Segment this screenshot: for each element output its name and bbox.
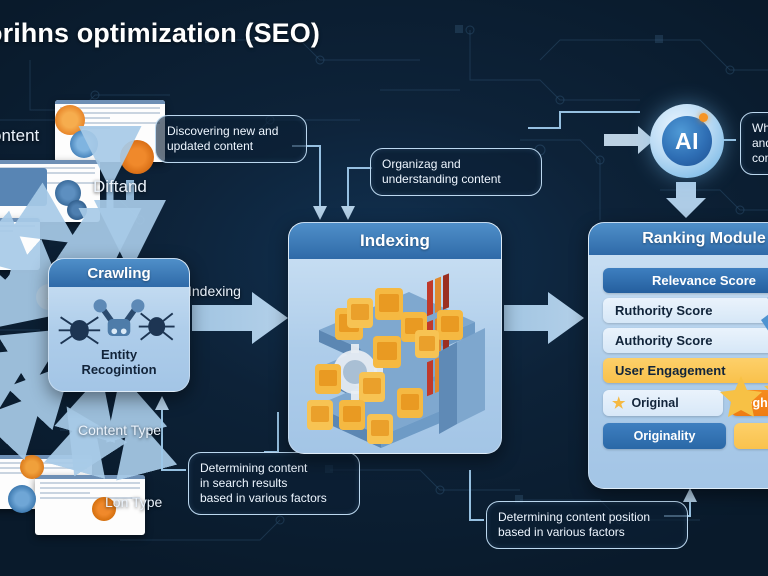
stage-indexing-header: Indexing bbox=[289, 223, 501, 259]
stage-crawling-sublabel: Entity Recogintion bbox=[49, 347, 189, 377]
label-content-type: Content Type bbox=[78, 422, 161, 438]
label-lon-type: Lon Type bbox=[105, 494, 162, 510]
star-icon: ★ bbox=[612, 394, 625, 412]
rank-row-authority[interactable]: Authority Score bbox=[603, 328, 768, 353]
rank-row-relevance[interactable]: Relevance Score bbox=[603, 268, 768, 293]
label-diftand: Diftand bbox=[93, 177, 147, 197]
chip-high-quality[interactable]: High-Quality bbox=[731, 390, 768, 416]
stage-ranking-header: Ranking Module bbox=[589, 223, 768, 255]
callout-determining-left-text: Determining content in search results ba… bbox=[200, 461, 327, 505]
chip-original-label: Original bbox=[631, 396, 678, 410]
chip-originality[interactable]: Originality bbox=[603, 423, 726, 449]
chip-row-1: ★ Original High-Quality bbox=[603, 390, 768, 416]
callout-ai-right-text: Wh and con bbox=[752, 121, 768, 165]
gear-icon bbox=[20, 455, 44, 479]
rank-row-user-engagement[interactable]: User Engagement bbox=[603, 358, 768, 383]
diagram-canvas: orihns optimization (SEO) bbox=[0, 0, 768, 576]
gear-icon bbox=[120, 140, 154, 174]
chip-high-quality-label: High-Quality bbox=[740, 396, 768, 410]
callout-organizing-text: Organizag and understanding content bbox=[382, 157, 501, 186]
label-content: ontent bbox=[0, 126, 39, 146]
gear-icon bbox=[70, 130, 98, 158]
rank-row-ruthority[interactable]: Ruthority Score bbox=[603, 298, 768, 323]
document-icon bbox=[0, 218, 40, 270]
spider-icon bbox=[139, 313, 175, 339]
indexing-illustration bbox=[289, 259, 501, 454]
callout-determining-right-text: Determining content position based in va… bbox=[498, 510, 650, 539]
stage-crawling-sublabel-line1: Entity bbox=[49, 347, 189, 362]
rank-row-user-engagement-label: User Engagement bbox=[615, 363, 726, 378]
callout-discovering: Discovering new and updated content bbox=[155, 115, 307, 163]
callout-organizing: Organizag and understanding content bbox=[370, 148, 542, 196]
stage-crawling-header: Crawling bbox=[49, 259, 189, 287]
callout-discovering-text: Discovering new and updated content bbox=[167, 124, 278, 153]
spider-icon bbox=[59, 317, 100, 343]
stage-indexing-body bbox=[289, 259, 501, 454]
callout-ai-right: Wh and con bbox=[740, 112, 768, 175]
stage-crawling-sublabel-line2: Recogintion bbox=[49, 362, 189, 377]
callout-determining-right: Determining content position based in va… bbox=[486, 501, 688, 549]
robot-arm-icon bbox=[94, 299, 145, 336]
page-title: orihns optimization (SEO) bbox=[0, 18, 320, 49]
callout-determining-left: Determining content in search results ba… bbox=[188, 452, 360, 515]
status-dot-icon bbox=[699, 113, 708, 122]
stage-crawling-body: Entity Recogintion bbox=[49, 287, 189, 385]
chip-originality-label: Originality bbox=[634, 429, 696, 443]
stage-crawling[interactable]: Crawling Entity bbox=[48, 258, 190, 392]
ai-hub-node[interactable]: AI bbox=[650, 104, 724, 178]
rank-row-authority-label: Authority Score bbox=[615, 333, 713, 348]
chip-diamond[interactable]: ♦ bbox=[734, 423, 768, 449]
stage-indexing[interactable]: Indexing bbox=[288, 222, 502, 454]
chip-row-2: Originality ♦ bbox=[603, 423, 768, 449]
stage-ranking-body: Relevance Score Ruthority Score Authorit… bbox=[589, 255, 768, 489]
rank-row-relevance-label: Relevance Score bbox=[652, 273, 756, 288]
grid-icon bbox=[0, 168, 47, 206]
chip-original[interactable]: ★ Original bbox=[603, 390, 723, 416]
gear-icon bbox=[8, 485, 36, 513]
stage-ranking[interactable]: Ranking Module Relevance Score Ruthority… bbox=[588, 222, 768, 489]
ai-label: AI bbox=[662, 116, 712, 166]
rank-row-ruthority-label: Ruthority Score bbox=[615, 303, 713, 318]
label-indexing-arrow: Indexing bbox=[188, 283, 241, 299]
gear-icon bbox=[67, 200, 87, 220]
